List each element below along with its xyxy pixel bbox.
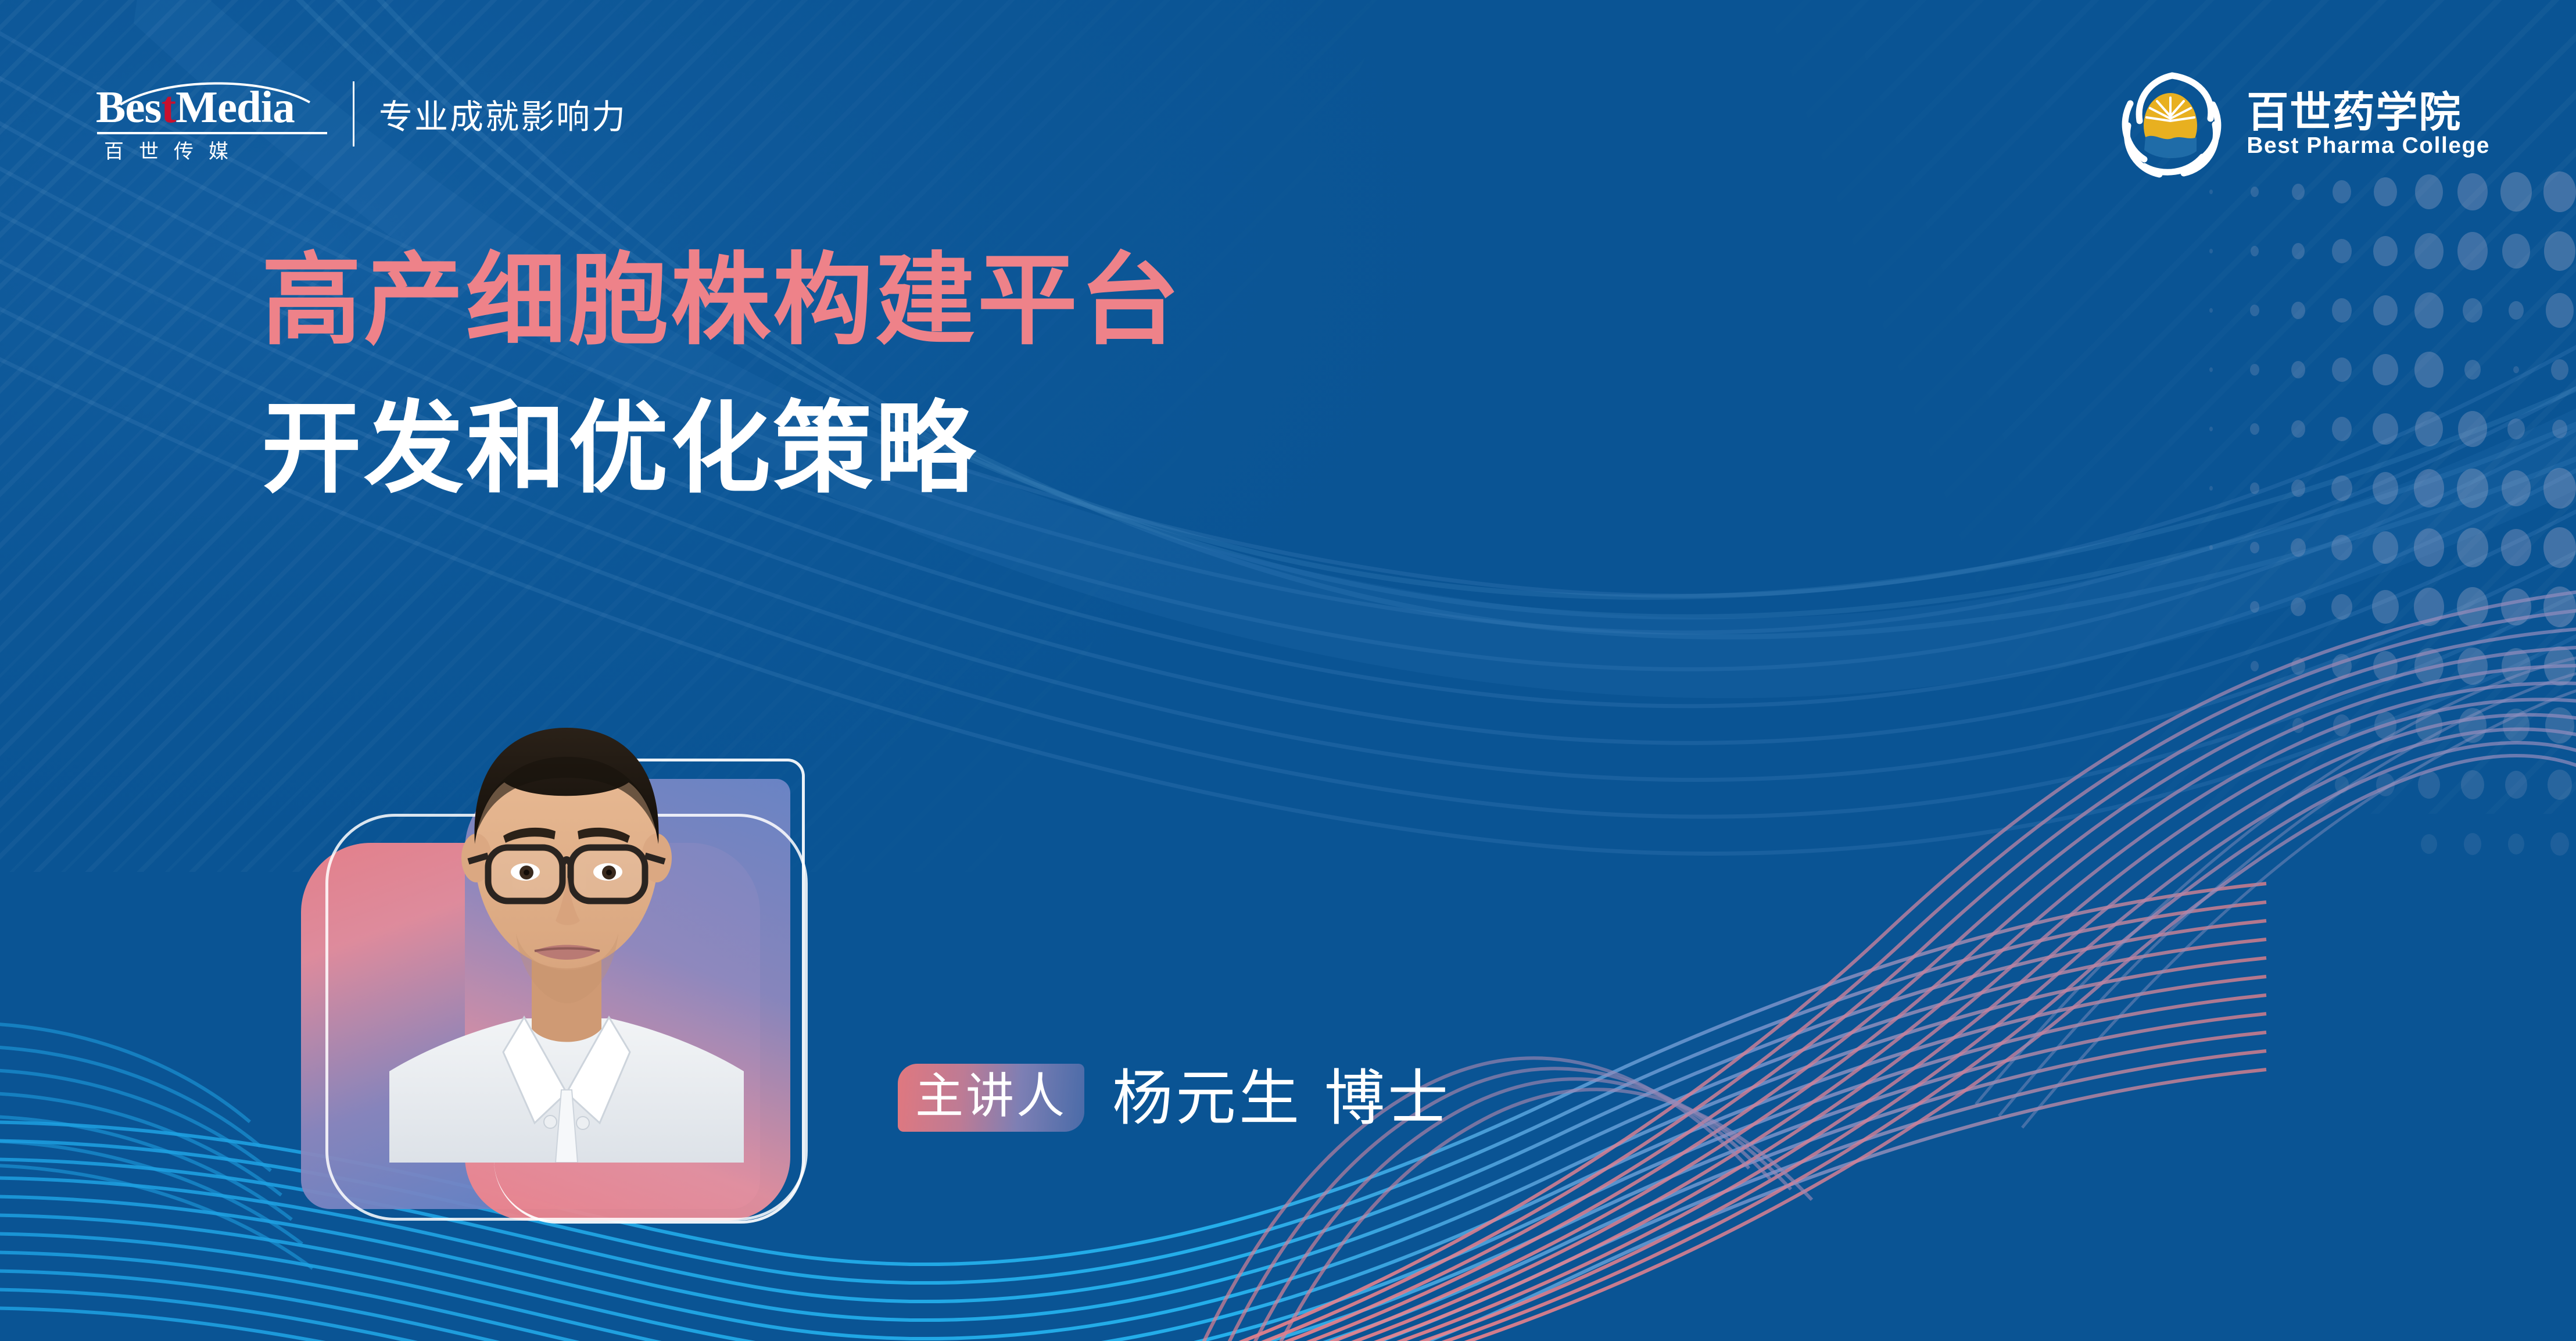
- speaker-info-row: 主讲人 杨元生 博士: [898, 1064, 1451, 1132]
- bpc-chinese-name: 百世药学院: [2247, 91, 2462, 133]
- banner-canvas: BestMedia 百世传媒 专业成就影响力: [0, 0, 2576, 1341]
- best-media-logo[interactable]: BestMedia 百世传媒 专业成就影响力: [96, 76, 627, 152]
- speaker-photo: [389, 680, 744, 1163]
- best-media-wordmark: BestMedia: [96, 85, 328, 130]
- sunrise-swirl-icon: [2109, 63, 2231, 185]
- best-pharma-college-logo[interactable]: 百世药学院 Best Pharma College: [2109, 63, 2490, 185]
- best-pharma-college-text: 百世药学院 Best Pharma College: [2247, 91, 2490, 157]
- bpc-english-name: Best Pharma College: [2247, 134, 2490, 157]
- logo-divider: [353, 81, 354, 146]
- wordmark-part-1: Bes: [96, 82, 162, 132]
- title-block: 高产细胞株构建平台 开发和优化策略: [261, 227, 1182, 523]
- halftone-dot-matrix: [2209, 171, 2576, 856]
- left-arc-lines-cyan: [0, 1023, 313, 1268]
- wordmark-part-2: Media: [175, 82, 295, 132]
- right-fan-lines: [1976, 651, 2576, 1128]
- title-line-2: 开发和优化策略: [261, 375, 1182, 523]
- bottom-wave-lines-pink: [1209, 587, 2576, 1341]
- logo-underline: [97, 132, 327, 134]
- speaker-portrait-frame: [291, 663, 814, 1221]
- best-media-mark: BestMedia 百世传媒: [96, 76, 328, 152]
- best-media-chinese-name: 百世传媒: [97, 135, 327, 164]
- logo-tagline: 专业成就影响力: [379, 90, 627, 138]
- title-line-1: 高产细胞株构建平台: [261, 227, 1182, 375]
- speaker-badge: 主讲人: [898, 1064, 1084, 1132]
- speaker-name: 杨元生 博士: [1112, 1068, 1451, 1128]
- wordmark-t-red: t: [162, 82, 176, 132]
